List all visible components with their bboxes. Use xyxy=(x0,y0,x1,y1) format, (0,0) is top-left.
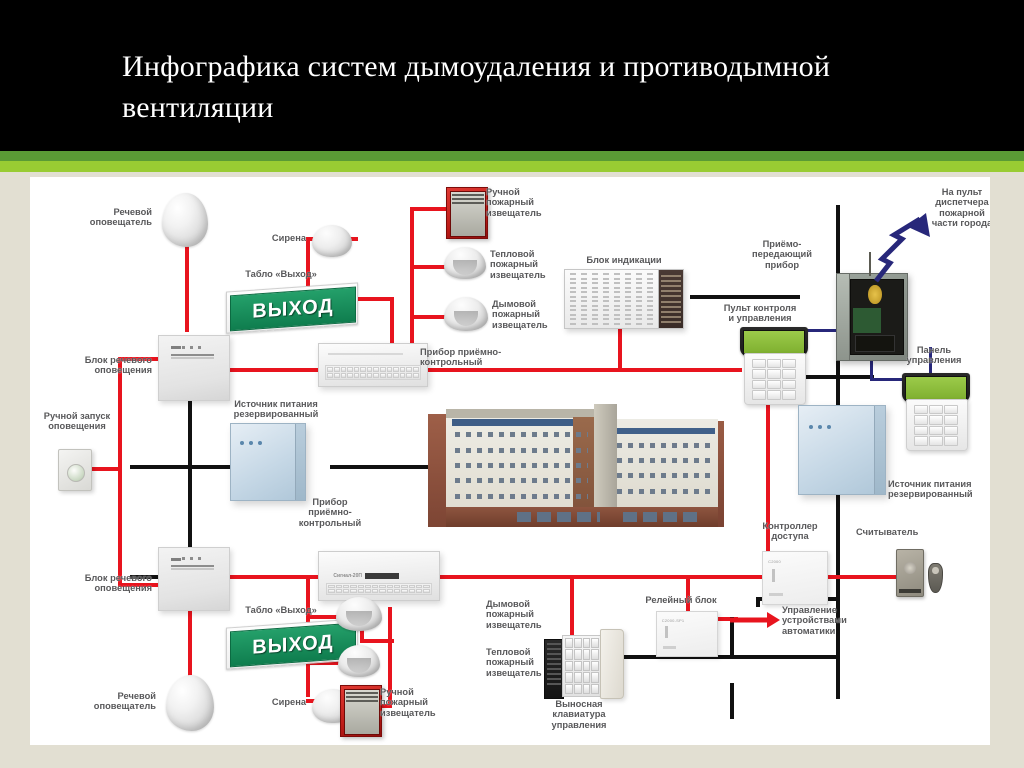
control-receiving-device-top xyxy=(318,343,428,387)
manual-call-point-bottom[interactable] xyxy=(340,685,382,737)
console-keypad[interactable] xyxy=(752,359,796,400)
infographic-canvas: Речевой оповещатель Сирена Табло «Выход»… xyxy=(30,177,990,745)
wire-black xyxy=(130,465,192,469)
wire-red xyxy=(410,207,448,211)
card-reader-label: Считыватель xyxy=(856,527,946,537)
manual-call-point-top[interactable] xyxy=(446,187,488,239)
remote-control-keypad-label: Выносная клавиатура управления xyxy=(522,699,636,730)
panel-keypad[interactable] xyxy=(914,405,958,446)
call-point-face xyxy=(450,191,486,237)
call-point-face xyxy=(344,689,380,735)
indicator-bar xyxy=(171,346,181,349)
pcb-board xyxy=(853,308,881,333)
exit-sign-top-label: Табло «Выход» xyxy=(216,269,346,279)
accent-bar-light-green xyxy=(0,161,1024,172)
psu-leds xyxy=(240,441,262,445)
wire-black xyxy=(730,683,734,719)
psu-leds xyxy=(809,425,831,429)
exit-sign-face: ВЫХОД xyxy=(230,287,356,332)
panel-line xyxy=(171,568,214,570)
keypad-grid[interactable] xyxy=(325,365,420,380)
voice-notification-block-bottom xyxy=(158,547,230,611)
panel-line xyxy=(171,357,214,359)
status-leds xyxy=(182,346,201,349)
monitoring-control-console[interactable] xyxy=(740,327,808,403)
exit-sign-text: ВЫХОД xyxy=(252,631,333,660)
control-panel[interactable] xyxy=(902,373,970,449)
voice-notification-block-bottom-label: Блок речевого оповещения xyxy=(34,573,152,594)
accent-bar-dark-green xyxy=(0,151,1024,161)
panel-line xyxy=(171,354,214,356)
remote-keypad-enclosure xyxy=(600,629,624,699)
wire-black xyxy=(188,399,192,551)
terminal-strip xyxy=(663,646,676,649)
indication-block xyxy=(564,269,684,329)
wire-red xyxy=(708,368,742,372)
automation-control-arrow-icon xyxy=(730,611,780,629)
terminal-strip xyxy=(772,569,775,583)
voice-notification-block-top-label: Блок речевого оповещения xyxy=(36,355,152,376)
device-marking-row: Сигнал-20П xyxy=(333,572,405,579)
page-title: Инфографика систем дымоудаления и против… xyxy=(122,46,922,128)
heat-detector-bottom-icon xyxy=(338,645,380,677)
access-controller-label: Контроллер доступа xyxy=(742,521,838,542)
siren-top-icon xyxy=(312,225,352,257)
panel-line xyxy=(328,353,404,355)
manual-notification-start-label: Ручной запуск оповещения xyxy=(30,411,124,432)
device-marking: C2000-SP1 xyxy=(662,618,684,623)
smoke-detector-top-icon xyxy=(444,297,488,331)
heat-detector-top-icon xyxy=(444,247,486,279)
terminal-strip xyxy=(769,593,783,596)
indication-legend-strip xyxy=(658,270,683,328)
manual-call-point-top-label: Ручной пожарный извещатель xyxy=(486,187,572,218)
coil-icon xyxy=(868,285,881,304)
backup-power-supply-right-label: Источник питания резервированный xyxy=(888,479,990,500)
panel-line xyxy=(171,565,214,567)
voice-annunciator-bottom-label: Речевой оповещатель xyxy=(60,691,156,712)
device-marking: C2000 xyxy=(768,559,781,564)
voice-annunciator-bottom-icon xyxy=(166,675,214,731)
keypad-grid[interactable] xyxy=(326,583,432,595)
psu-side xyxy=(295,424,305,500)
wire-red xyxy=(185,232,189,332)
control-panel-label: Панель управления xyxy=(886,345,982,366)
control-receiving-device-bottom: Сигнал-20П xyxy=(318,551,440,601)
building-photo xyxy=(428,399,724,527)
relay-block-label: Релейный блок xyxy=(626,595,736,605)
control-receiving-device-bottom-label: Прибор приёмно- контрольный xyxy=(282,497,378,528)
control-receiving-device-top-label: Прибор приёмно- контрольный xyxy=(420,347,530,368)
manual-notification-start-button[interactable] xyxy=(58,449,92,491)
voice-annunciator-top-icon xyxy=(162,193,208,247)
wire-red xyxy=(410,315,448,319)
smoke-detector-bottom-icon xyxy=(336,597,382,631)
key-fob-icon xyxy=(928,563,943,593)
access-controller: C2000 xyxy=(762,551,828,605)
enclosure-interior xyxy=(850,279,904,355)
wire-red xyxy=(118,357,122,587)
siren-bottom-label: Сирена xyxy=(226,697,306,707)
indicator-bar xyxy=(171,558,181,561)
to-city-fire-dispatch-label: На пульт диспетчера пожарной части город… xyxy=(910,187,990,229)
wire-red xyxy=(90,467,122,471)
manual-call-point-bottom-label: Ручной пожарный извещатель xyxy=(380,687,466,718)
enclosure-door xyxy=(837,274,850,360)
exit-sign-text: ВЫХОД xyxy=(252,295,333,324)
panel-marking: Сигнал-20П xyxy=(333,573,362,579)
exit-sign-bottom-label: Табло «Выход» xyxy=(216,605,346,615)
indication-block-label: Блок индикации xyxy=(554,255,694,265)
status-leds xyxy=(182,557,201,560)
backup-power-supply-left xyxy=(230,423,306,501)
terminal-strip xyxy=(665,626,668,637)
reader-strip xyxy=(899,589,921,593)
monitoring-control-console-label: Пульт контроля и управления xyxy=(702,303,818,324)
heat-detector-bottom-label: Тепловой пожарный извещатель xyxy=(486,647,572,678)
voice-annunciator-top-label: Речевой оповещатель xyxy=(60,207,152,228)
wire-red xyxy=(410,207,414,357)
wire-red xyxy=(410,265,448,269)
transmitter-device-label: Приёмо- передающий прибор xyxy=(730,239,834,270)
voice-notification-block-top xyxy=(158,335,230,401)
psu-side xyxy=(874,406,885,494)
exit-sign-face: ВЫХОД xyxy=(230,623,356,668)
indication-rows xyxy=(565,270,658,328)
relay-block: C2000-SP1 xyxy=(656,611,718,657)
wire-red xyxy=(306,615,340,619)
card-reader[interactable] xyxy=(896,549,924,597)
backup-power-supply-left-label: Источник питания резервированный xyxy=(206,399,346,420)
wire-black xyxy=(690,295,800,299)
backup-power-supply-right xyxy=(798,405,886,495)
smoke-detector-bottom-label: Дымовой пожарный извещатель xyxy=(486,599,572,630)
automation-device-control-label: Управление устройствами автоматики xyxy=(782,605,872,636)
slide: Инфографика систем дымоудаления и против… xyxy=(0,0,1024,768)
siren-top-label: Сирена xyxy=(226,233,306,243)
exit-sign-top: ВЫХОД xyxy=(226,282,358,333)
